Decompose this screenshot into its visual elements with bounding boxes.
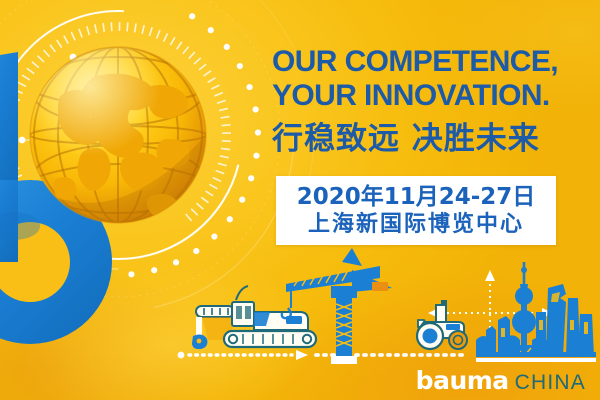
logo-region-text: CHINA [515,372,586,394]
bauma-china-banner: OUR COMPETENCE, YOUR INNOVATION. 行稳致远 决胜… [0,0,600,400]
logo-brand-text: bauma [416,368,509,394]
shanghai-skyline-icon [476,262,596,362]
ground-measure-line [178,350,462,360]
bauma-china-logo: bauma CHINA [416,368,586,394]
machinery-layer [0,0,600,400]
excavator-icon [224,286,316,347]
road-roller-icon [417,300,467,349]
